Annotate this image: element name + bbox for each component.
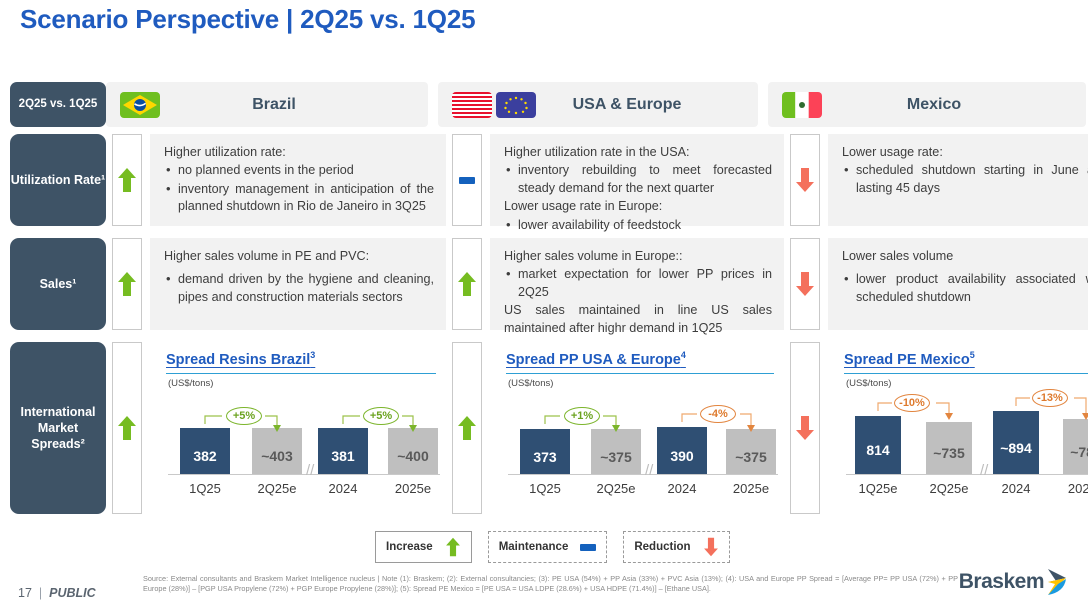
equal-bar-icon [459, 177, 475, 184]
chart-unit-label: (US$/tons) [838, 374, 1088, 390]
panel-bullets-2: lower availability of feedstock [504, 217, 772, 234]
chart-title: Spread PE Mexico5 [838, 346, 1088, 372]
panel-sales-brazil: Higher sales volume in PE and PVC: deman… [150, 238, 446, 330]
chart-spread-pe-mexico: Spread PE Mexico5 (US$/tons) // 814 ~735… [828, 342, 1088, 514]
chart-title-superscript: 4 [681, 350, 686, 360]
trend-box-spread-brazil [112, 342, 142, 514]
panel-sales-usa-europe: Higher sales volume in Europe:: market e… [490, 238, 784, 330]
chart-title-superscript: 3 [310, 350, 315, 360]
panel-utilization-brazil: Higher utilization rate: no planned even… [150, 134, 446, 226]
trend-box-utilization-usa [452, 134, 482, 226]
panel-lead: Higher utilization rate: [164, 144, 434, 161]
chart-title-superscript: 5 [970, 350, 975, 360]
down-arrow-icon [703, 537, 719, 557]
panel-lead-2: US sales maintained in line US sales mai… [504, 302, 772, 337]
classification-label: PUBLIC [49, 586, 96, 600]
page-title: Scenario Perspective | 2Q25 vs. 1Q25 [20, 4, 475, 35]
trend-box-sales-usa [452, 238, 482, 330]
chart-unit-label: (US$/tons) [160, 374, 440, 390]
list-item: lower availability of feedstock [504, 217, 772, 234]
chart-unit-label: (US$/tons) [500, 374, 778, 390]
trend-box-utilization-brazil [112, 134, 142, 226]
brazil-flag-icon [120, 92, 160, 118]
chart-title: Spread Resins Brazil3 [160, 346, 440, 372]
header-label-mexico: Mexico [822, 96, 1046, 114]
chart-plot-area: // 814 ~735 ~894 ~780 -10% -13% 1Q25e 2Q… [838, 392, 1088, 504]
legend-item-maintenance: Maintenance [488, 531, 608, 563]
x-tick-label: 1Q25 [174, 480, 236, 498]
list-item: no planned events in the period [164, 162, 434, 179]
source-note: Source: External consultants and Braskem… [143, 574, 958, 595]
legend-item-reduction: Reduction [623, 531, 729, 563]
x-tick-label: 2025e [718, 480, 784, 498]
row-key-spreads: International Market Spreads² [10, 342, 106, 514]
x-tick-label: 1Q25 [514, 480, 576, 498]
panel-bullets: lower product availability associated wi… [842, 271, 1088, 306]
change-badge: -13% [1032, 389, 1068, 407]
chart-title: Spread PP USA & Europe4 [500, 346, 778, 372]
chart-plot-area: // 382 ~403 381 ~400 +5% +5% 1Q25 2Q25e … [160, 392, 440, 504]
trend-box-spread-usa [452, 342, 482, 514]
legend-item-increase: Increase [375, 531, 472, 563]
legend-label: Increase [386, 541, 433, 553]
row-key-label: Sales¹ [40, 276, 77, 292]
x-tick-label: 2025e [380, 480, 446, 498]
list-item: demand driven by the hygiene and cleanin… [164, 271, 434, 306]
change-badge: -10% [894, 394, 930, 412]
x-tick-label: 2025e [1053, 480, 1088, 498]
usa-flag-icon [452, 92, 492, 118]
panel-bullets: no planned events in the period inventor… [164, 162, 434, 215]
legend: Increase Maintenance Reduction [375, 531, 730, 563]
slide-root: Scenario Perspective | 2Q25 vs. 1Q25 2Q2… [0, 0, 1088, 609]
list-item: lower product availability associated wi… [842, 271, 1088, 306]
panel-utilization-mexico: Lower usage rate: scheduled shutdown sta… [828, 134, 1088, 226]
flags-usa-europe [452, 92, 536, 118]
panel-lead: Higher sales volume in Europe:: [504, 248, 772, 265]
change-badge: +5% [363, 407, 399, 425]
down-arrow-icon [795, 167, 815, 193]
header-label-usa-europe: USA & Europe [536, 96, 718, 114]
x-tick-label: 2024 [651, 480, 713, 498]
header-cell-usa-europe: USA & Europe [438, 82, 758, 127]
row-key-utilization: Utilization Rate¹ [10, 134, 106, 226]
change-badge: +5% [226, 407, 262, 425]
header-cell-mexico: Mexico [768, 82, 1086, 127]
braskem-logo: Braskem [959, 566, 1074, 598]
x-tick-label: 1Q25e [847, 480, 909, 498]
panel-lead-2: Lower usage rate in Europe: [504, 198, 772, 215]
row-key-sales: Sales¹ [10, 238, 106, 330]
up-arrow-icon [445, 537, 461, 557]
trend-box-sales-mexico [790, 238, 820, 330]
legend-label: Reduction [634, 541, 690, 553]
down-arrow-icon [795, 271, 815, 297]
x-tick-label: 2Q25e [916, 480, 982, 498]
page-number: 17 [18, 586, 32, 600]
up-arrow-icon [457, 271, 477, 297]
footer-page-info: 17|PUBLIC [18, 586, 96, 600]
header-cell-brazil: Brazil [106, 82, 428, 127]
list-item: scheduled shutdown starting in June and … [842, 162, 1088, 197]
row-utilization-rate: Utilization Rate¹ Higher utilization rat… [10, 134, 1078, 226]
chart-plot-area: // 373 ~375 390 ~375 +1% -4% 1Q25 2Q25e … [500, 392, 778, 504]
x-tick-label: 2Q25e [244, 480, 310, 498]
panel-bullets: inventory rebuilding to meet forecasted … [504, 162, 772, 197]
equal-bar-icon [580, 537, 596, 557]
chart-spread-resins-brazil: Spread Resins Brazil3 (US$/tons) // 382 … [150, 342, 446, 514]
flags-brazil [120, 92, 160, 118]
trend-box-spread-mexico [790, 342, 820, 514]
up-arrow-icon [457, 415, 477, 441]
chart-spread-pp-usa-europe: Spread PP USA & Europe4 (US$/tons) // 37… [490, 342, 784, 514]
panel-bullets: demand driven by the hygiene and cleanin… [164, 271, 434, 306]
logo-text: Braskem [959, 570, 1044, 594]
panel-bullets: market expectation for lower PP prices i… [504, 266, 772, 301]
row-international-market-spreads: International Market Spreads² Spread Res… [10, 342, 1078, 514]
header-key-label: 2Q25 vs. 1Q25 [19, 97, 98, 111]
panel-lead: Higher utilization rate in the USA: [504, 144, 772, 161]
mexico-flag-icon [782, 92, 822, 118]
header-row: 2Q25 vs. 1Q25 Brazil [10, 82, 1078, 127]
europe-flag-icon [496, 92, 536, 118]
flags-mexico [782, 92, 822, 118]
panel-lead: Lower usage rate: [842, 144, 1088, 161]
braskem-swoosh-icon [1044, 566, 1074, 598]
header-key-cell: 2Q25 vs. 1Q25 [10, 82, 106, 127]
list-item: market expectation for lower PP prices i… [504, 266, 772, 301]
trend-box-sales-brazil [112, 238, 142, 330]
x-tick-label: 2024 [985, 480, 1047, 498]
change-badge: +1% [564, 407, 600, 425]
change-badge: -4% [700, 405, 736, 423]
panel-sales-mexico: Lower sales volume lower product availab… [828, 238, 1088, 330]
panel-bullets: scheduled shutdown starting in June and … [842, 162, 1088, 197]
row-key-label: International Market Spreads² [10, 404, 106, 453]
list-item: inventory management in anticipation of … [164, 181, 434, 216]
down-arrow-icon [795, 415, 815, 441]
list-item: inventory rebuilding to meet forecasted … [504, 162, 772, 197]
panel-utilization-usa-europe: Higher utilization rate in the USA: inve… [490, 134, 784, 226]
up-arrow-icon [117, 415, 137, 441]
panel-lead: Lower sales volume [842, 248, 1088, 265]
x-tick-label: 2Q25e [583, 480, 649, 498]
footer-separator: | [39, 586, 42, 600]
legend-label: Maintenance [499, 541, 569, 553]
trend-box-utilization-mexico [790, 134, 820, 226]
header-label-brazil: Brazil [160, 96, 388, 114]
panel-lead: Higher sales volume in PE and PVC: [164, 248, 434, 265]
row-sales: Sales¹ Higher sales volume in PE and PVC… [10, 238, 1078, 330]
up-arrow-icon [117, 167, 137, 193]
x-tick-label: 2024 [312, 480, 374, 498]
row-key-label: Utilization Rate¹ [11, 172, 105, 188]
up-arrow-icon [117, 271, 137, 297]
